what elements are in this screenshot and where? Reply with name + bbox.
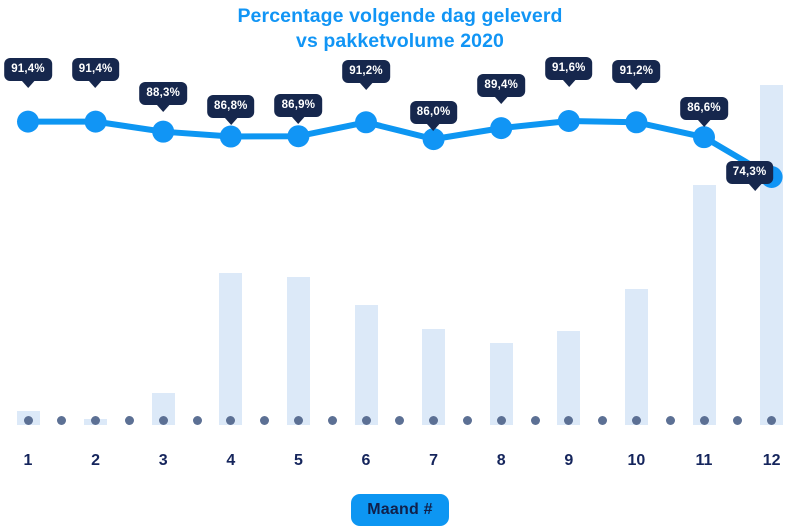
x-tick-label-4: 4 [226, 452, 235, 470]
value-badge-text: 89,4% [477, 74, 525, 97]
value-badge-text: 91,2% [342, 60, 390, 83]
value-badge-pointer [88, 79, 104, 88]
value-badge-pointer [20, 79, 36, 88]
value-badge-text: 86,9% [275, 94, 323, 117]
value-badge-pointer [747, 182, 763, 191]
value-badge-month-5: 86,9% [275, 94, 323, 117]
value-badge-text: 86,8% [207, 95, 255, 118]
value-badge-pointer [155, 103, 171, 112]
value-badge-month-3: 88,3% [139, 82, 187, 105]
x-axis-tick-labels: 123456789101112 [0, 452, 800, 478]
x-tick-label-8: 8 [497, 452, 506, 470]
value-badge-text: 91,6% [545, 57, 593, 80]
value-badge-month-10: 91,2% [613, 60, 661, 83]
x-tick-label-7: 7 [429, 452, 438, 470]
value-badge-text: 91,4% [72, 58, 120, 81]
x-tick-label-9: 9 [564, 452, 573, 470]
value-badge-text: 74,3% [726, 161, 774, 184]
value-badge-pointer [358, 81, 374, 90]
value-badge-month-9: 91,6% [545, 57, 593, 80]
value-badge-month-8: 89,4% [477, 74, 525, 97]
value-badge-month-4: 86,8% [207, 95, 255, 118]
value-badge-text: 86,0% [410, 101, 458, 124]
x-tick-label-12: 12 [763, 452, 781, 470]
value-badge-pointer [628, 81, 644, 90]
value-badge-month-6: 91,2% [342, 60, 390, 83]
x-tick-label-3: 3 [159, 452, 168, 470]
chart-container: Percentage volgende dag geleverd vs pakk… [0, 0, 800, 532]
x-axis-title-badge: Maand # [351, 494, 448, 526]
value-badge-month-2: 91,4% [72, 58, 120, 81]
x-tick-label-6: 6 [362, 452, 371, 470]
value-badge-text: 88,3% [139, 82, 187, 105]
value-badge-pointer [493, 95, 509, 104]
x-tick-label-10: 10 [627, 452, 645, 470]
x-tick-label-11: 11 [696, 452, 713, 470]
value-badge-text: 86,6% [680, 97, 728, 120]
value-badge-text: 91,4% [4, 58, 52, 81]
value-badge-pointer [696, 118, 712, 127]
x-tick-label-2: 2 [91, 452, 100, 470]
x-tick-label-1: 1 [24, 452, 33, 470]
value-badge-month-12: 74,3% [726, 161, 774, 184]
value-badge-pointer [426, 122, 442, 131]
value-badge-text: 91,2% [613, 60, 661, 83]
value-badge-pointer [561, 78, 577, 87]
value-badge-month-11: 86,6% [680, 97, 728, 120]
x-tick-label-5: 5 [294, 452, 303, 470]
x-axis-title-wrapper: Maand # [0, 494, 800, 526]
value-badge-pointer [290, 115, 306, 124]
value-badge-month-1: 91,4% [4, 58, 52, 81]
value-badge-month-7: 86,0% [410, 101, 458, 124]
value-label-group: 91,4%91,4%88,3%86,8%86,9%91,2%86,0%89,4%… [0, 0, 800, 440]
value-badge-pointer [223, 116, 239, 125]
plot-area: 91,4%91,4%88,3%86,8%86,9%91,2%86,0%89,4%… [0, 0, 800, 440]
